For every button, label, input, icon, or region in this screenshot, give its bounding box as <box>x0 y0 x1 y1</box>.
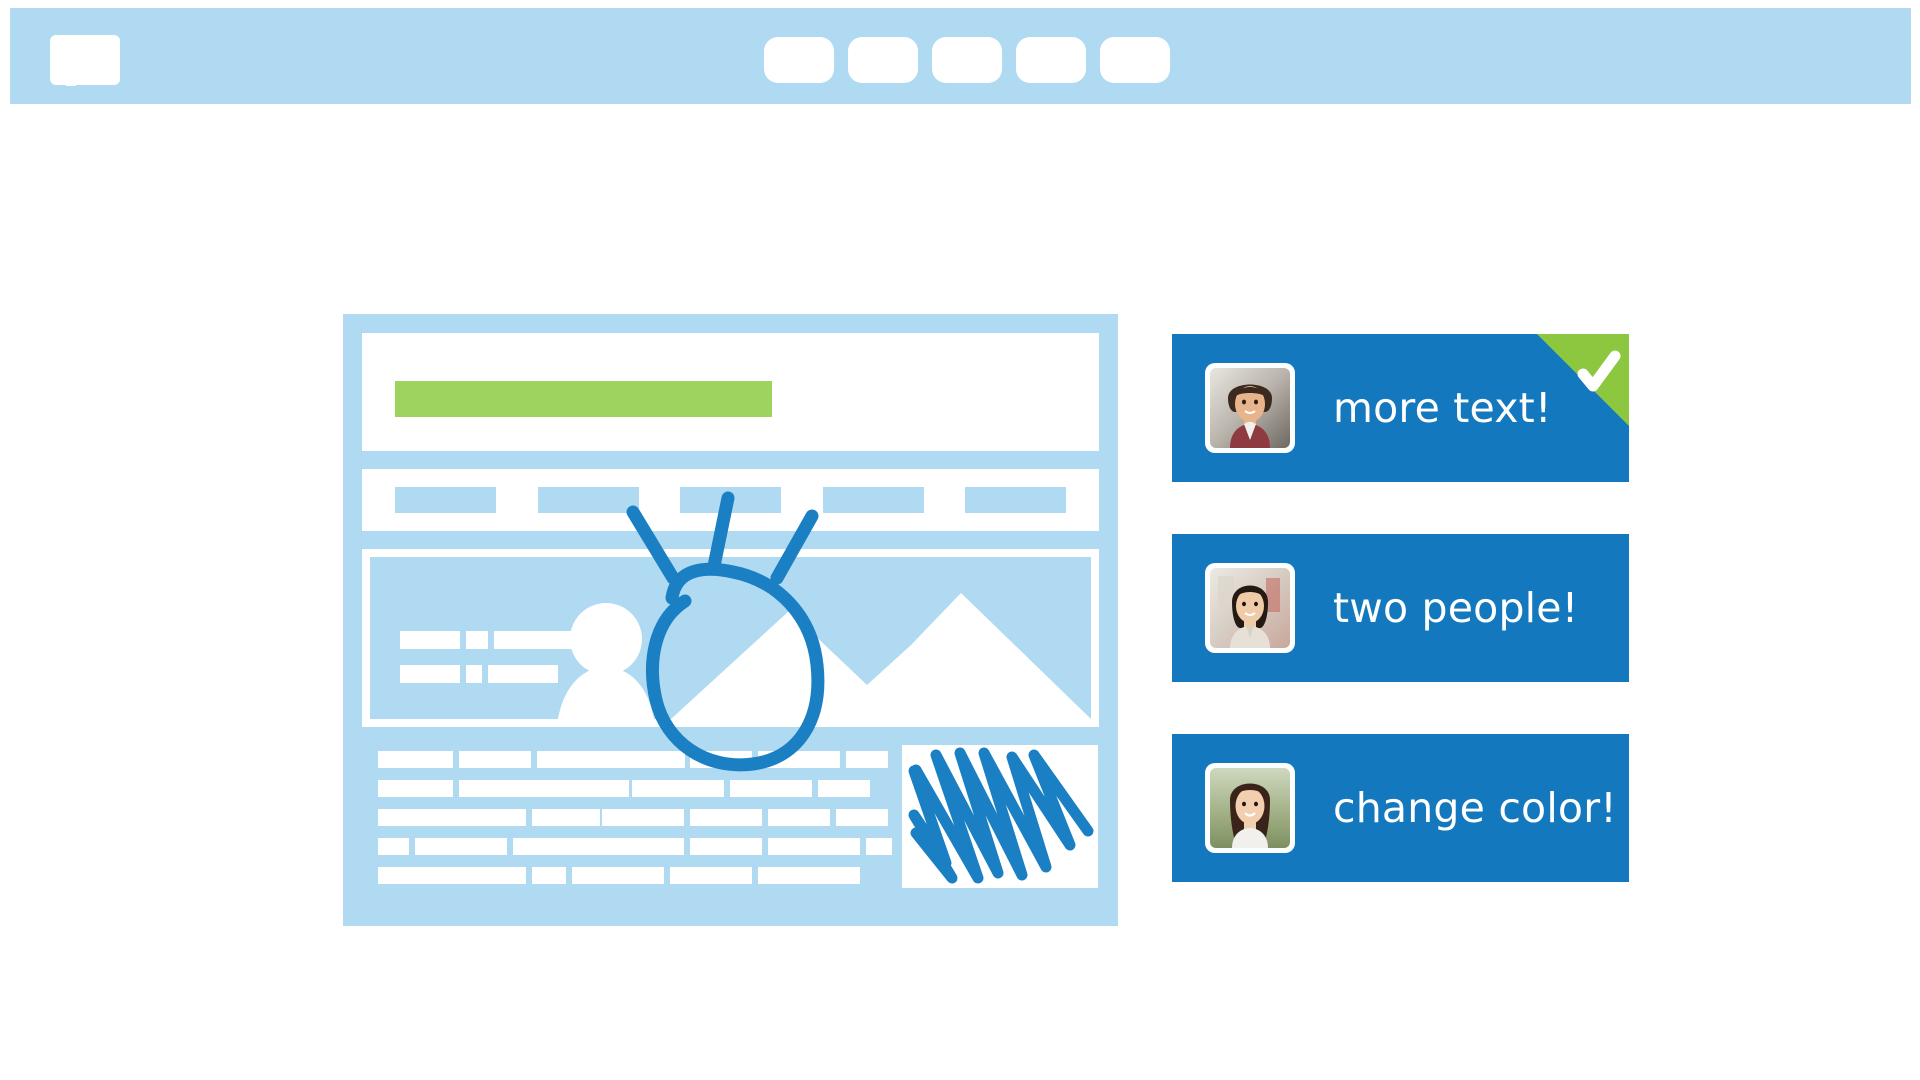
avatar-woman-brunette <box>1210 768 1290 848</box>
mockup-nav-item-4[interactable] <box>823 487 924 513</box>
text-line <box>602 867 892 884</box>
hero-caption-line-2a <box>400 665 460 683</box>
hero-caption-line-1a <box>400 631 460 649</box>
mockup-nav-item-1[interactable] <box>395 487 496 513</box>
top-bar <box>10 8 1911 104</box>
text-line <box>602 809 892 826</box>
hero-caption-line-2b <box>466 665 482 683</box>
person-silhouette-icon <box>558 601 688 719</box>
card-label: change color! <box>1333 784 1617 832</box>
mockup-header <box>362 333 1099 451</box>
top-nav-pill-1[interactable] <box>764 37 834 83</box>
mountain-icon <box>671 593 1091 719</box>
hero-caption-line-1b <box>466 631 488 649</box>
document-mockup[interactable] <box>343 314 1118 926</box>
mockup-nav-bar <box>362 469 1099 531</box>
avatar-man-curly-hair <box>1210 368 1290 448</box>
card-label: more text! <box>1333 384 1552 432</box>
text-line <box>602 751 892 768</box>
text-line <box>602 838 892 855</box>
top-nav-pill-3[interactable] <box>932 37 1002 83</box>
card-two-people[interactable]: two people! <box>1172 534 1629 682</box>
top-nav-pill-4[interactable] <box>1016 37 1086 83</box>
header-highlight-bar[interactable] <box>395 381 772 417</box>
hero-caption-line-2c <box>488 665 558 683</box>
crossed-out-image-scribble <box>902 745 1098 888</box>
top-nav-pill-2[interactable] <box>848 37 918 83</box>
mockup-nav-item-2[interactable] <box>538 487 639 513</box>
image-placeholder[interactable] <box>370 557 1091 719</box>
avatar <box>1205 563 1295 653</box>
top-nav-pill-5[interactable] <box>1100 37 1170 83</box>
avatar-woman-dark-hair <box>1210 568 1290 648</box>
card-more-text[interactable]: more text! <box>1172 334 1629 482</box>
text-column-right <box>602 751 892 896</box>
card-change-color[interactable]: change color! <box>1172 734 1629 882</box>
body-image-box[interactable] <box>902 745 1098 888</box>
mockup-nav-item-3[interactable] <box>680 487 781 513</box>
text-line <box>602 780 892 797</box>
avatar <box>1205 763 1295 853</box>
avatar <box>1205 363 1295 453</box>
chat-bubble-icon[interactable] <box>50 35 120 86</box>
mockup-nav-item-5[interactable] <box>965 487 1066 513</box>
page-root: more text! <box>0 0 1920 1080</box>
completed-ribbon <box>1537 334 1629 426</box>
card-label: two people! <box>1333 584 1578 632</box>
mockup-hero-section <box>362 549 1099 727</box>
top-nav-pill-group <box>764 37 1170 83</box>
card-stack: more text! <box>1172 334 1629 882</box>
mockup-body-section <box>362 745 1099 899</box>
